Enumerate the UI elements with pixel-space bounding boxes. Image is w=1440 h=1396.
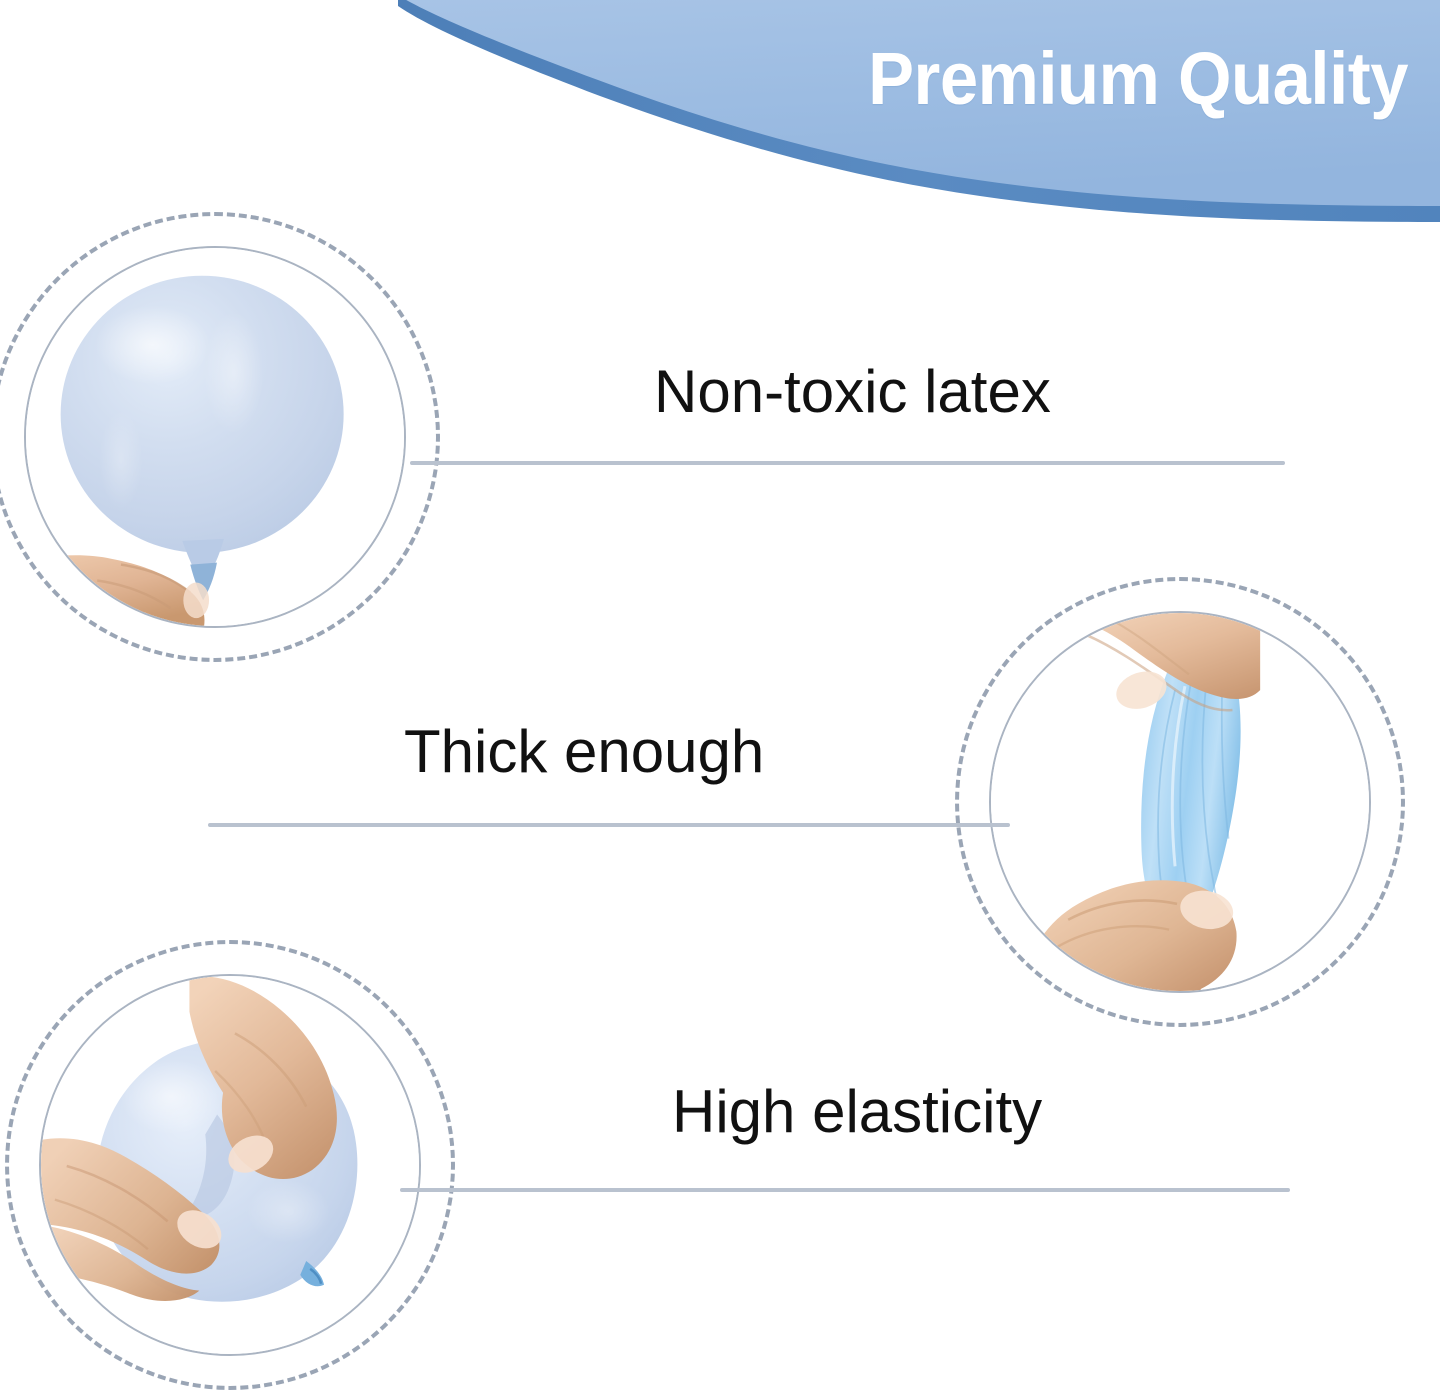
wave-dark-band [398, 0, 1440, 222]
infographic-page: Premium Quality [0, 0, 1440, 1396]
feature-1-rule [410, 461, 1285, 465]
balloon-stretched-between-two-hands-photo [991, 613, 1369, 991]
feature-3-rule [400, 1188, 1290, 1192]
feature-1-photo-frame [24, 246, 406, 628]
feature-2-label: Thick enough [404, 722, 764, 782]
balloon-squeezed-by-two-hands-photo [41, 976, 419, 1354]
wave-light-shape [396, 0, 1440, 206]
page-title: Premium Quality [99, 42, 1408, 116]
feature-2-photo-frame [989, 611, 1371, 993]
feature-1-label: Non-toxic latex [654, 362, 1051, 422]
feature-3-label: High elasticity [672, 1082, 1042, 1142]
feature-3-photo-frame [39, 974, 421, 1356]
feature-2-rule [208, 823, 1010, 827]
balloon-inflated-held-in-hand-photo [26, 248, 404, 626]
